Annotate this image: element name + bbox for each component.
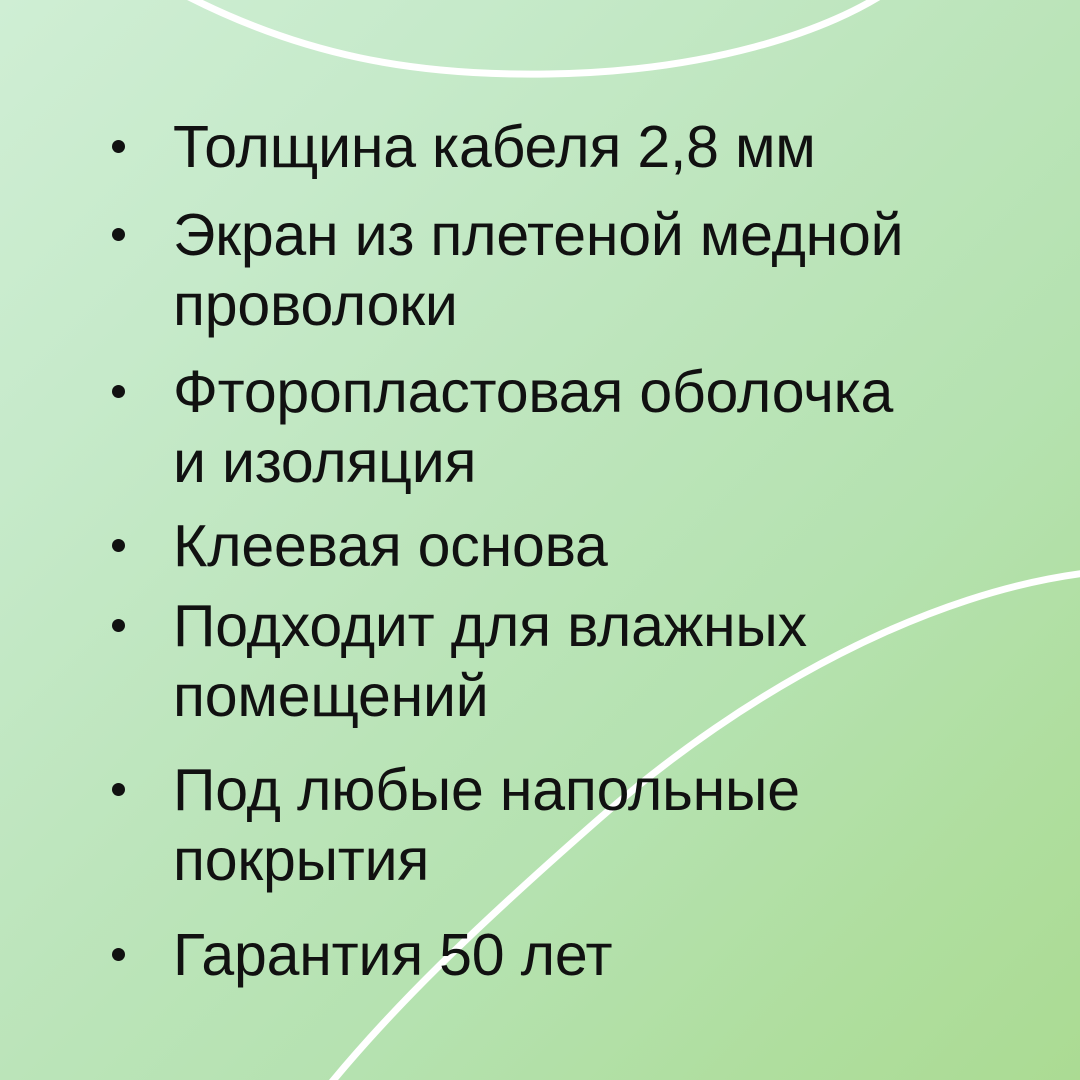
bullet-text: Клеевая основа [173,511,1012,581]
list-item: Толщина кабеля 2,8 мм [112,112,1012,182]
list-item: Подходит для влажных помещений [112,591,1012,731]
bullet-dot-icon [112,228,125,241]
promo-slide: Толщина кабеля 2,8 мм Экран из плетеной … [0,0,1080,1080]
list-item: Под любые напольные покрытия [112,755,1012,895]
bullet-text: Гарантия 50 лет [173,920,1012,990]
bullet-text: Под любые напольные покрытия [173,755,1012,895]
list-item: Гарантия 50 лет [112,920,1012,990]
bullet-dot-icon [112,385,125,398]
bullet-dot-icon [112,140,125,153]
bullet-dot-icon [112,619,125,632]
list-item: Экран из плетеной медной проволоки [112,200,1012,340]
bullet-text: Толщина кабеля 2,8 мм [173,112,1012,182]
feature-bullet-list: Толщина кабеля 2,8 мм Экран из плетеной … [0,0,1080,1080]
list-item: Фторопластовая оболочка и изоляция [112,357,1012,497]
bullet-dot-icon [112,948,125,961]
bullet-dot-icon [112,539,125,552]
bullet-dot-icon [112,783,125,796]
bullet-text: Экран из плетеной медной проволоки [173,200,1012,340]
list-item: Клеевая основа [112,511,1012,581]
bullet-text: Фторопластовая оболочка и изоляция [173,357,1012,497]
bullet-text: Подходит для влажных помещений [173,591,1012,731]
